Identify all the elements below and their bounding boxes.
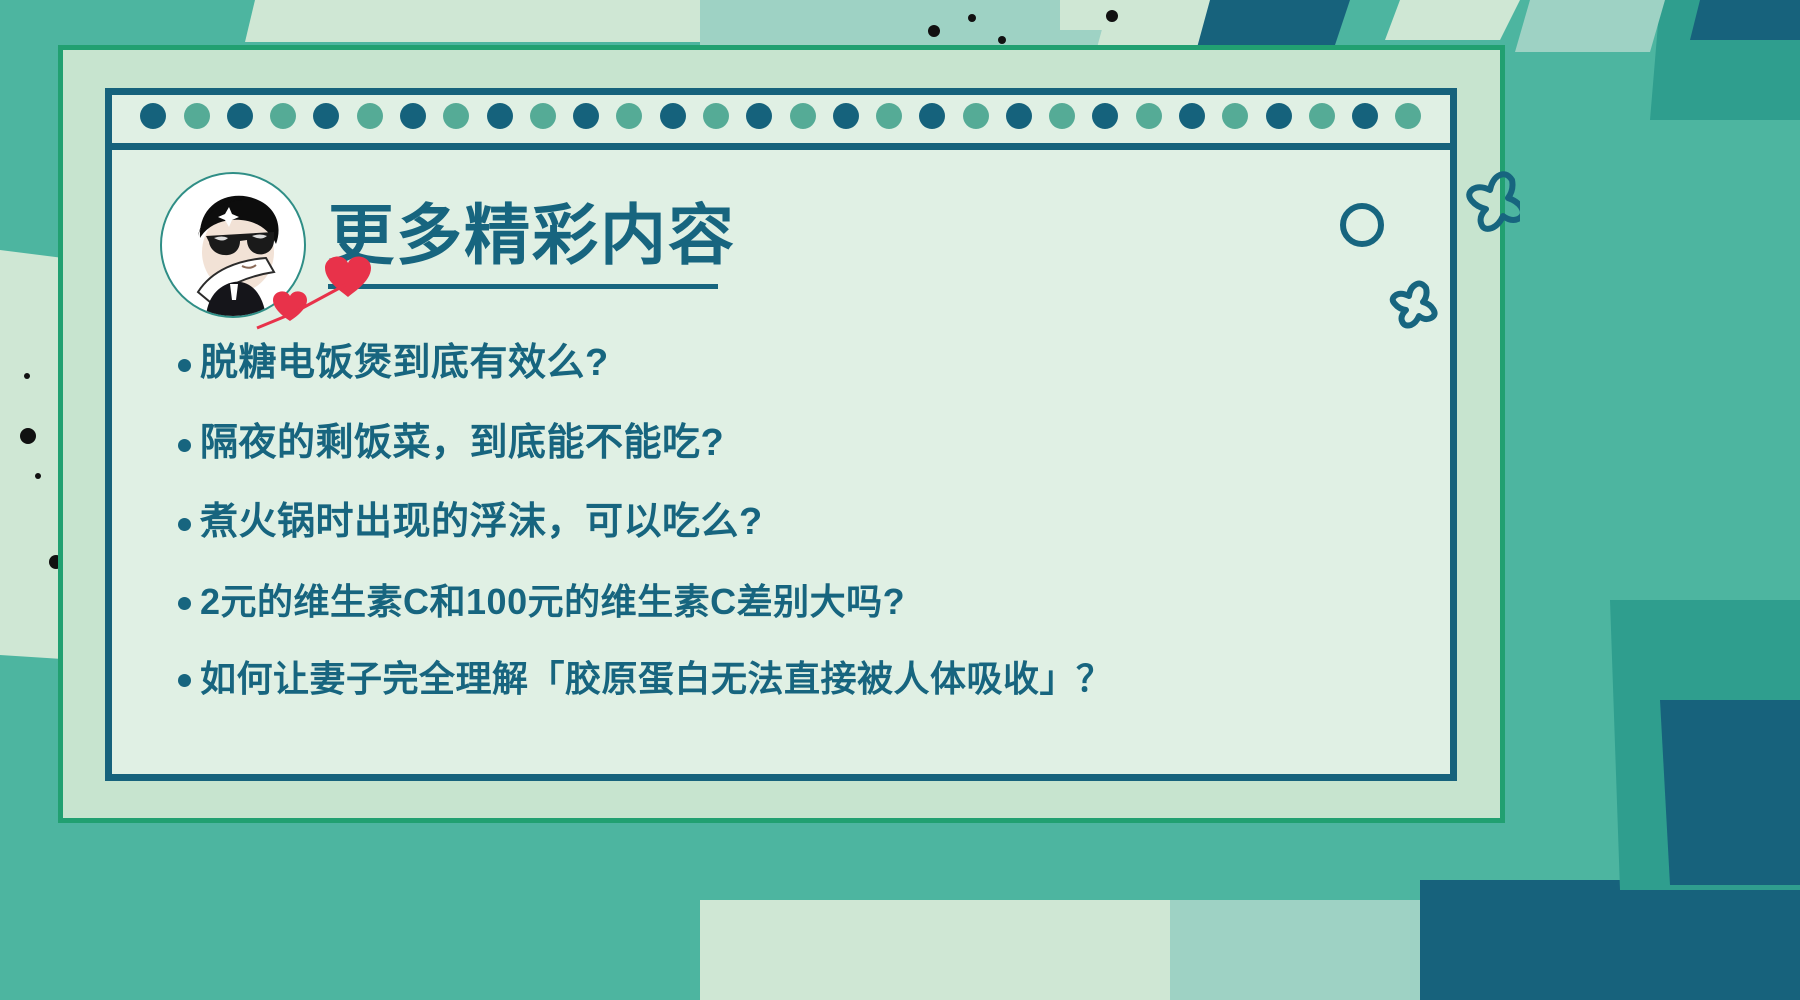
list-item[interactable]: 脱糖电饭煲到底有效么? — [178, 340, 1408, 388]
list-item-label: 2元的维生素C和100元的维生素C差别大吗? — [200, 579, 905, 624]
heart-decoration — [255, 250, 385, 340]
strip-dot — [1006, 103, 1032, 129]
title-block: 更多精彩内容 — [328, 201, 736, 289]
strip-dot — [660, 103, 686, 129]
strip-dot — [790, 103, 816, 129]
strip-dot — [530, 103, 556, 129]
list-item-label: 隔夜的剩饭菜，到底能不能吃? — [200, 420, 724, 468]
strip-dot — [443, 103, 469, 129]
strip-dot — [833, 103, 859, 129]
strip-dot — [703, 103, 729, 129]
strip-dot — [140, 103, 166, 129]
page-title: 更多精彩内容 — [328, 201, 736, 270]
poster-header: 更多精彩内容 — [160, 172, 736, 318]
list-item-label: 煮火锅时出现的浮沫，可以吃么? — [200, 499, 763, 547]
strip-dot — [357, 103, 383, 129]
strip-dot — [227, 103, 253, 129]
strip-dot — [876, 103, 902, 129]
poster-stage: 更多精彩内容 脱糖电饭煲到底有效么? 隔夜的剩饭菜，到底能不能吃? 煮火锅时出现… — [0, 0, 1800, 1000]
list-item-label: 如何让妻子完全理解「胶原蛋白无法直接被人体吸收」？ — [200, 656, 1113, 701]
bullet-dot-icon — [178, 518, 191, 531]
list-item[interactable]: 隔夜的剩饭菜，到底能不能吃? — [178, 420, 1408, 468]
list-item-label: 脱糖电饭煲到底有效么? — [200, 340, 609, 388]
strip-dot — [400, 103, 426, 129]
strip-dot — [1266, 103, 1292, 129]
strip-dot — [616, 103, 642, 129]
strip-dot — [1395, 103, 1421, 129]
strip-dot — [1092, 103, 1118, 129]
strip-dot — [963, 103, 989, 129]
strip-dot — [1222, 103, 1248, 129]
bullet-dot-icon — [178, 359, 191, 372]
content-list: 脱糖电饭煲到底有效么? 隔夜的剩饭菜，到底能不能吃? 煮火锅时出现的浮沫，可以吃… — [178, 340, 1408, 701]
decorative-dot-strip — [105, 88, 1457, 150]
list-item[interactable]: 2元的维生素C和100元的维生素C差别大吗? — [178, 579, 1408, 624]
strip-dot — [1309, 103, 1335, 129]
strip-dot — [919, 103, 945, 129]
strip-dot — [1352, 103, 1378, 129]
bullet-dot-icon — [178, 674, 191, 687]
strip-dot — [184, 103, 210, 129]
list-item[interactable]: 煮火锅时出现的浮沫，可以吃么? — [178, 499, 1408, 547]
title-underline — [328, 284, 718, 289]
doodle-marks — [1330, 160, 1520, 360]
strip-dot — [313, 103, 339, 129]
strip-dot — [487, 103, 513, 129]
strip-dot — [1049, 103, 1075, 129]
bullet-dot-icon — [178, 439, 191, 452]
strip-dot — [1179, 103, 1205, 129]
strip-dot — [1136, 103, 1162, 129]
list-item[interactable]: 如何让妻子完全理解「胶原蛋白无法直接被人体吸收」？ — [178, 656, 1408, 701]
strip-dot — [573, 103, 599, 129]
circle-outline-icon — [1343, 206, 1381, 244]
strip-dot — [270, 103, 296, 129]
strip-dot — [746, 103, 772, 129]
bullet-dot-icon — [178, 597, 191, 610]
